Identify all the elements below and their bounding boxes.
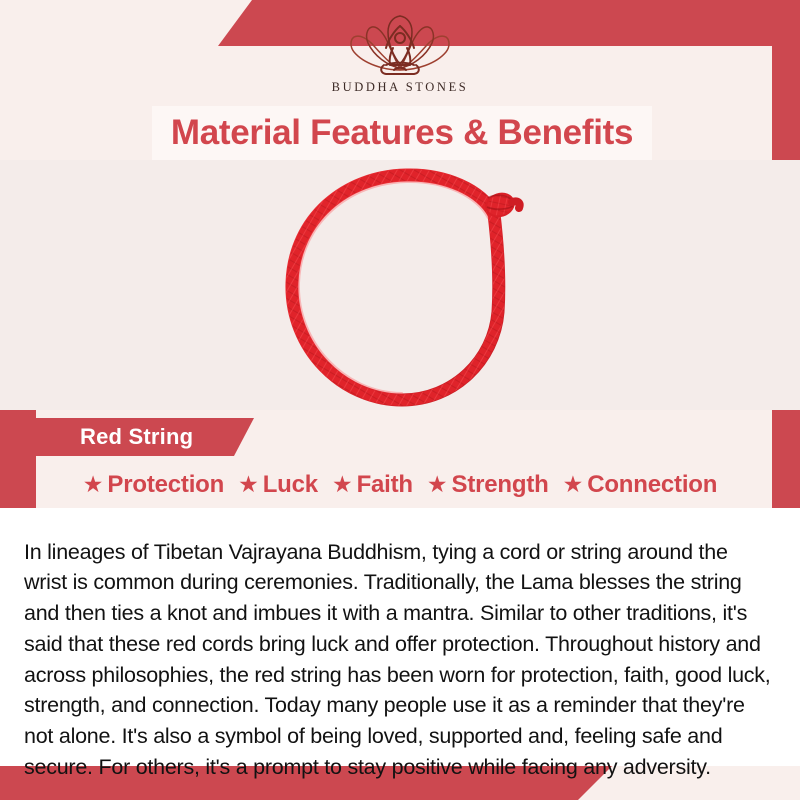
product-hero xyxy=(0,160,800,410)
brand-header: BUDDHA STONES xyxy=(0,0,800,104)
page-title: Material Features & Benefits xyxy=(171,113,633,153)
brand-wordmark: BUDDHA STONES xyxy=(0,80,800,95)
benefit-item: ★ Luck xyxy=(233,471,323,499)
star-icon: ★ xyxy=(332,473,353,496)
benefit-label: Faith xyxy=(357,471,413,499)
star-icon: ★ xyxy=(563,473,584,496)
benefit-label: Protection xyxy=(107,471,224,499)
description-text: In lineages of Tibetan Vajrayana Buddhis… xyxy=(24,537,776,783)
infographic-page: BUDDHA STONES Material Features & Benefi… xyxy=(0,0,800,800)
benefit-item: ★ Strength xyxy=(422,471,554,499)
lotus-meditation-icon xyxy=(334,12,466,78)
benefit-item: ★ Protection xyxy=(78,471,229,499)
brand-logo: BUDDHA STONES xyxy=(0,12,800,95)
star-icon: ★ xyxy=(427,473,448,496)
star-icon: ★ xyxy=(83,473,104,496)
benefits-row: ★ Protection ★ Luck ★ Faith ★ Strength ★… xyxy=(0,466,800,504)
material-ribbon: Red String xyxy=(22,418,254,456)
red-braided-string-bracelet-icon xyxy=(250,160,550,410)
star-icon: ★ xyxy=(238,473,259,496)
benefit-item: ★ Faith xyxy=(327,471,418,499)
benefit-label: Connection xyxy=(587,471,717,499)
benefit-label: Luck xyxy=(263,471,318,499)
benefit-item: ★ Connection xyxy=(558,471,723,499)
description-panel: In lineages of Tibetan Vajrayana Buddhis… xyxy=(0,508,800,766)
page-title-band: Material Features & Benefits xyxy=(152,106,652,160)
benefit-label: Strength xyxy=(452,471,549,499)
material-name: Red String xyxy=(22,424,193,450)
